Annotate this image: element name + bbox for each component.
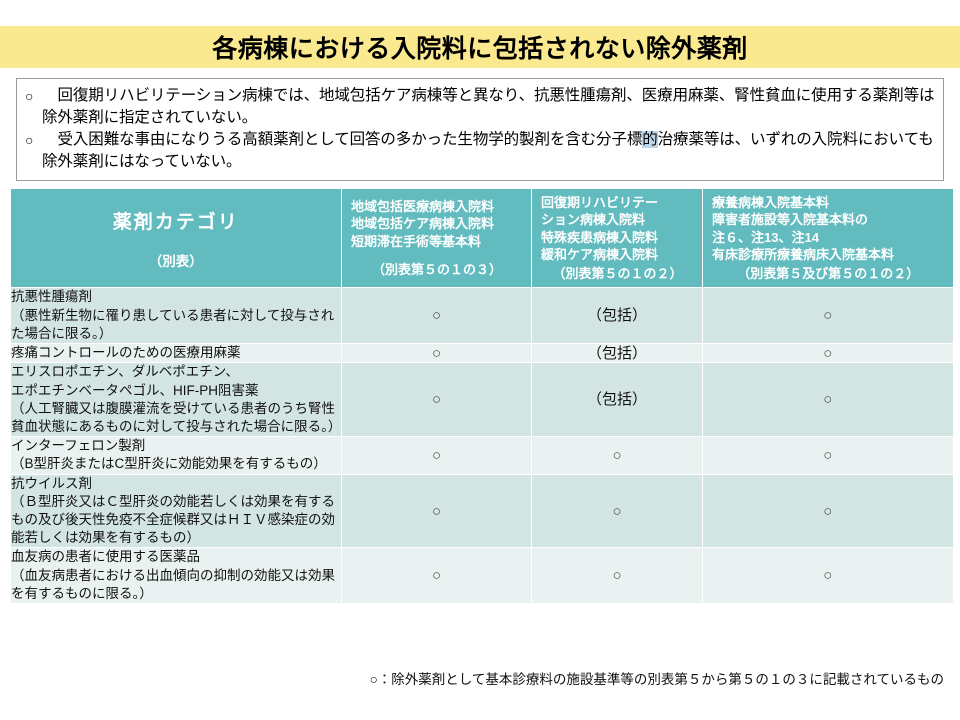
category-note: （悪性新生物に罹り患している患者に対して投与された場合に限る。） — [11, 307, 341, 343]
header-col-0-ref: （別表第５の１の３） — [351, 261, 527, 278]
category-title: インターフェロン製剤 — [11, 437, 341, 455]
mark-value: ○ — [823, 391, 832, 408]
note-item-text: 受入困難な事由になりうる高額薬剤として回答の多かった生物学的製剤を含む分子標的治… — [42, 129, 935, 173]
mark-value: ○ — [432, 307, 441, 324]
mark-value: （包括） — [587, 345, 647, 362]
mark-value: ○ — [823, 567, 832, 584]
table-row: 疼痛コントロールのための医療用麻薬 ○ （包括） ○ — [11, 344, 953, 363]
category-note: （B型肝炎またはC型肝炎に効能効果を有するもの） — [11, 455, 341, 473]
row-4-mark-0: ○ — [342, 474, 532, 548]
table-row: インターフェロン製剤 （B型肝炎またはC型肝炎に効能効果を有するもの） ○ ○ … — [11, 437, 953, 474]
mark-value: ○ — [612, 567, 621, 584]
category-title: 抗悪性腫瘍剤 — [11, 288, 341, 306]
mark-value: （包括） — [587, 391, 647, 408]
circle-bullet-icon: ○ — [25, 129, 42, 151]
circle-bullet-icon: ○ — [25, 85, 42, 107]
note-text-before: 受入困難な事由になりうる高額薬剤として回答の多かった生物学的製剤を含む分子標 — [58, 131, 643, 148]
category-note: （人工腎臓又は腹膜灌流を受けている患者のうち腎性貧血状態にあるものに対して投与さ… — [11, 400, 341, 436]
mark-value: ○ — [432, 447, 441, 464]
header-col-1-ref: （別表第５の１の２） — [541, 265, 698, 282]
table-row: 血友病の患者に使用する医薬品 （血友病患者における出血傾向の抑制の効能又は効果を… — [11, 548, 953, 604]
mark-value: ○ — [432, 567, 441, 584]
header-line: 注６、注13、注14 — [712, 230, 819, 245]
table-row: エリスロポエチン、ダルベポエチン、 エポエチンベータペゴル、HIF-PH阻害薬 … — [11, 363, 953, 437]
row-3-mark-0: ○ — [342, 437, 532, 474]
header-line: 回復期リハビリテー — [541, 195, 658, 210]
row-2-mark-2: ○ — [703, 363, 953, 437]
header-line: 障害者施設等入院基本料の — [712, 212, 868, 227]
row-5-category: 血友病の患者に使用する医薬品 （血友病患者における出血傾向の抑制の効能又は効果を… — [11, 548, 342, 604]
mark-value: ○ — [823, 503, 832, 520]
table-header-row: 薬剤カテゴリ （別表） 地域包括医療病棟入院料 地域包括ケア病棟入院料 短期滞在… — [11, 189, 953, 288]
category-note: （Ｂ型肝炎又はＣ型肝炎の効能若しくは効果を有するもの及び後天性免疫不全症候群又は… — [11, 493, 341, 548]
category-title: エリスロポエチン、ダルベポエチン、 エポエチンベータペゴル、HIF-PH阻害薬 — [11, 363, 341, 399]
notes-box: ○ 回復期リハビリテーション病棟では、地域包括ケア病棟等と異なり、抗悪性腫瘍剤、… — [16, 78, 944, 181]
row-5-mark-2: ○ — [703, 548, 953, 604]
header-cell-category: 薬剤カテゴリ （別表） — [11, 189, 342, 288]
row-4-category: 抗ウイルス剤 （Ｂ型肝炎又はＣ型肝炎の効能若しくは効果を有するもの及び後天性免疫… — [11, 474, 342, 548]
mark-value: ○ — [823, 307, 832, 324]
mark-value: （包括） — [587, 307, 647, 324]
note-item: ○ 受入困難な事由になりうる高額薬剤として回答の多かった生物学的製剤を含む分子標… — [25, 129, 935, 173]
row-3-mark-1: ○ — [532, 437, 703, 474]
slide-title-banner: 各病棟における入院料に包括されない除外薬剤 — [0, 26, 960, 68]
row-2-category: エリスロポエチン、ダルベポエチン、 エポエチンベータペゴル、HIF-PH阻害薬 … — [11, 363, 342, 437]
table-header: 薬剤カテゴリ （別表） 地域包括医療病棟入院料 地域包括ケア病棟入院料 短期滞在… — [11, 189, 953, 288]
mark-value: ○ — [432, 391, 441, 408]
header-category-sub: （別表） — [15, 250, 338, 270]
row-0-mark-1: （包括） — [532, 288, 703, 344]
mark-value: ○ — [612, 503, 621, 520]
header-line: 療養病棟入院基本料 — [712, 195, 829, 210]
header-line: 短期滞在手術等基本料 — [351, 234, 481, 249]
category-title: 疼痛コントロールのための医療用麻薬 — [11, 344, 341, 362]
page-title: 各病棟における入院料に包括されない除外薬剤 — [212, 29, 748, 65]
header-line: ション病棟入院料 — [541, 212, 645, 227]
row-1-category: 疼痛コントロールのための医療用麻薬 — [11, 344, 342, 363]
row-0-mark-2: ○ — [703, 288, 953, 344]
exclusion-drug-table: 薬剤カテゴリ （別表） 地域包括医療病棟入院料 地域包括ケア病棟入院料 短期滞在… — [10, 188, 953, 604]
row-5-mark-1: ○ — [532, 548, 703, 604]
header-line: 特殊疾患病棟入院料 — [541, 230, 658, 245]
mark-value: ○ — [432, 345, 441, 362]
header-category-main: 薬剤カテゴリ — [15, 207, 338, 234]
row-2-mark-0: ○ — [342, 363, 532, 437]
row-4-mark-2: ○ — [703, 474, 953, 548]
note-text-highlight: 的 — [642, 131, 657, 148]
row-0-category: 抗悪性腫瘍剤 （悪性新生物に罹り患している患者に対して投与された場合に限る。） — [11, 288, 342, 344]
row-4-mark-1: ○ — [532, 474, 703, 548]
row-2-mark-1: （包括） — [532, 363, 703, 437]
row-3-category: インターフェロン製剤 （B型肝炎またはC型肝炎に効能効果を有するもの） — [11, 437, 342, 474]
header-line: 緩和ケア病棟入院料 — [541, 247, 658, 262]
note-item: ○ 回復期リハビリテーション病棟では、地域包括ケア病棟等と異なり、抗悪性腫瘍剤、… — [25, 85, 935, 129]
mark-value: ○ — [432, 503, 441, 520]
mark-value: ○ — [823, 345, 832, 362]
header-cell-chiiki: 地域包括医療病棟入院料 地域包括ケア病棟入院料 短期滞在手術等基本料 （別表第５… — [342, 189, 532, 288]
mark-value: ○ — [612, 447, 621, 464]
table-body: 抗悪性腫瘍剤 （悪性新生物に罹り患している患者に対して投与された場合に限る。） … — [11, 288, 953, 604]
header-col-0-lines: 地域包括医療病棟入院料 地域包括ケア病棟入院料 短期滞在手術等基本料 （別表第５… — [346, 198, 527, 278]
header-cell-ryoyo: 療養病棟入院基本料 障害者施設等入院基本料の 注６、注13、注14 有床診療所療… — [703, 189, 953, 288]
header-line: 地域包括ケア病棟入院料 — [351, 216, 494, 231]
table-footnote: ○：除外薬剤として基本診療料の施設基準等の別表第５から第５の１の３に記載されてい… — [0, 668, 952, 688]
header-col-2-lines: 療養病棟入院基本料 障害者施設等入院基本料の 注６、注13、注14 有床診療所療… — [707, 194, 949, 282]
category-note: （血友病患者における出血傾向の抑制の効能又は効果を有するものに限る。） — [11, 567, 341, 603]
category-title: 抗ウイルス剤 — [11, 475, 341, 493]
header-col-1-lines: 回復期リハビリテー ション病棟入院料 特殊疾患病棟入院料 緩和ケア病棟入院料 （… — [536, 194, 698, 282]
row-1-mark-2: ○ — [703, 344, 953, 363]
table-row: 抗悪性腫瘍剤 （悪性新生物に罹り患している患者に対して投与された場合に限る。） … — [11, 288, 953, 344]
header-line: 地域包括医療病棟入院料 — [351, 199, 494, 214]
note-item-text: 回復期リハビリテーション病棟では、地域包括ケア病棟等と異なり、抗悪性腫瘍剤、医療… — [42, 85, 935, 129]
table-row: 抗ウイルス剤 （Ｂ型肝炎又はＣ型肝炎の効能若しくは効果を有するもの及び後天性免疫… — [11, 474, 953, 548]
row-1-mark-0: ○ — [342, 344, 532, 363]
category-title: 血友病の患者に使用する医薬品 — [11, 548, 341, 566]
row-1-mark-1: （包括） — [532, 344, 703, 363]
row-5-mark-0: ○ — [342, 548, 532, 604]
row-3-mark-2: ○ — [703, 437, 953, 474]
header-cell-kaifukuki: 回復期リハビリテー ション病棟入院料 特殊疾患病棟入院料 緩和ケア病棟入院料 （… — [532, 189, 703, 288]
header-line: 有床診療所療養病床入院基本料 — [712, 247, 894, 262]
mark-value: ○ — [823, 447, 832, 464]
row-0-mark-0: ○ — [342, 288, 532, 344]
header-col-2-ref: （別表第５及び第５の１の２） — [712, 265, 949, 282]
